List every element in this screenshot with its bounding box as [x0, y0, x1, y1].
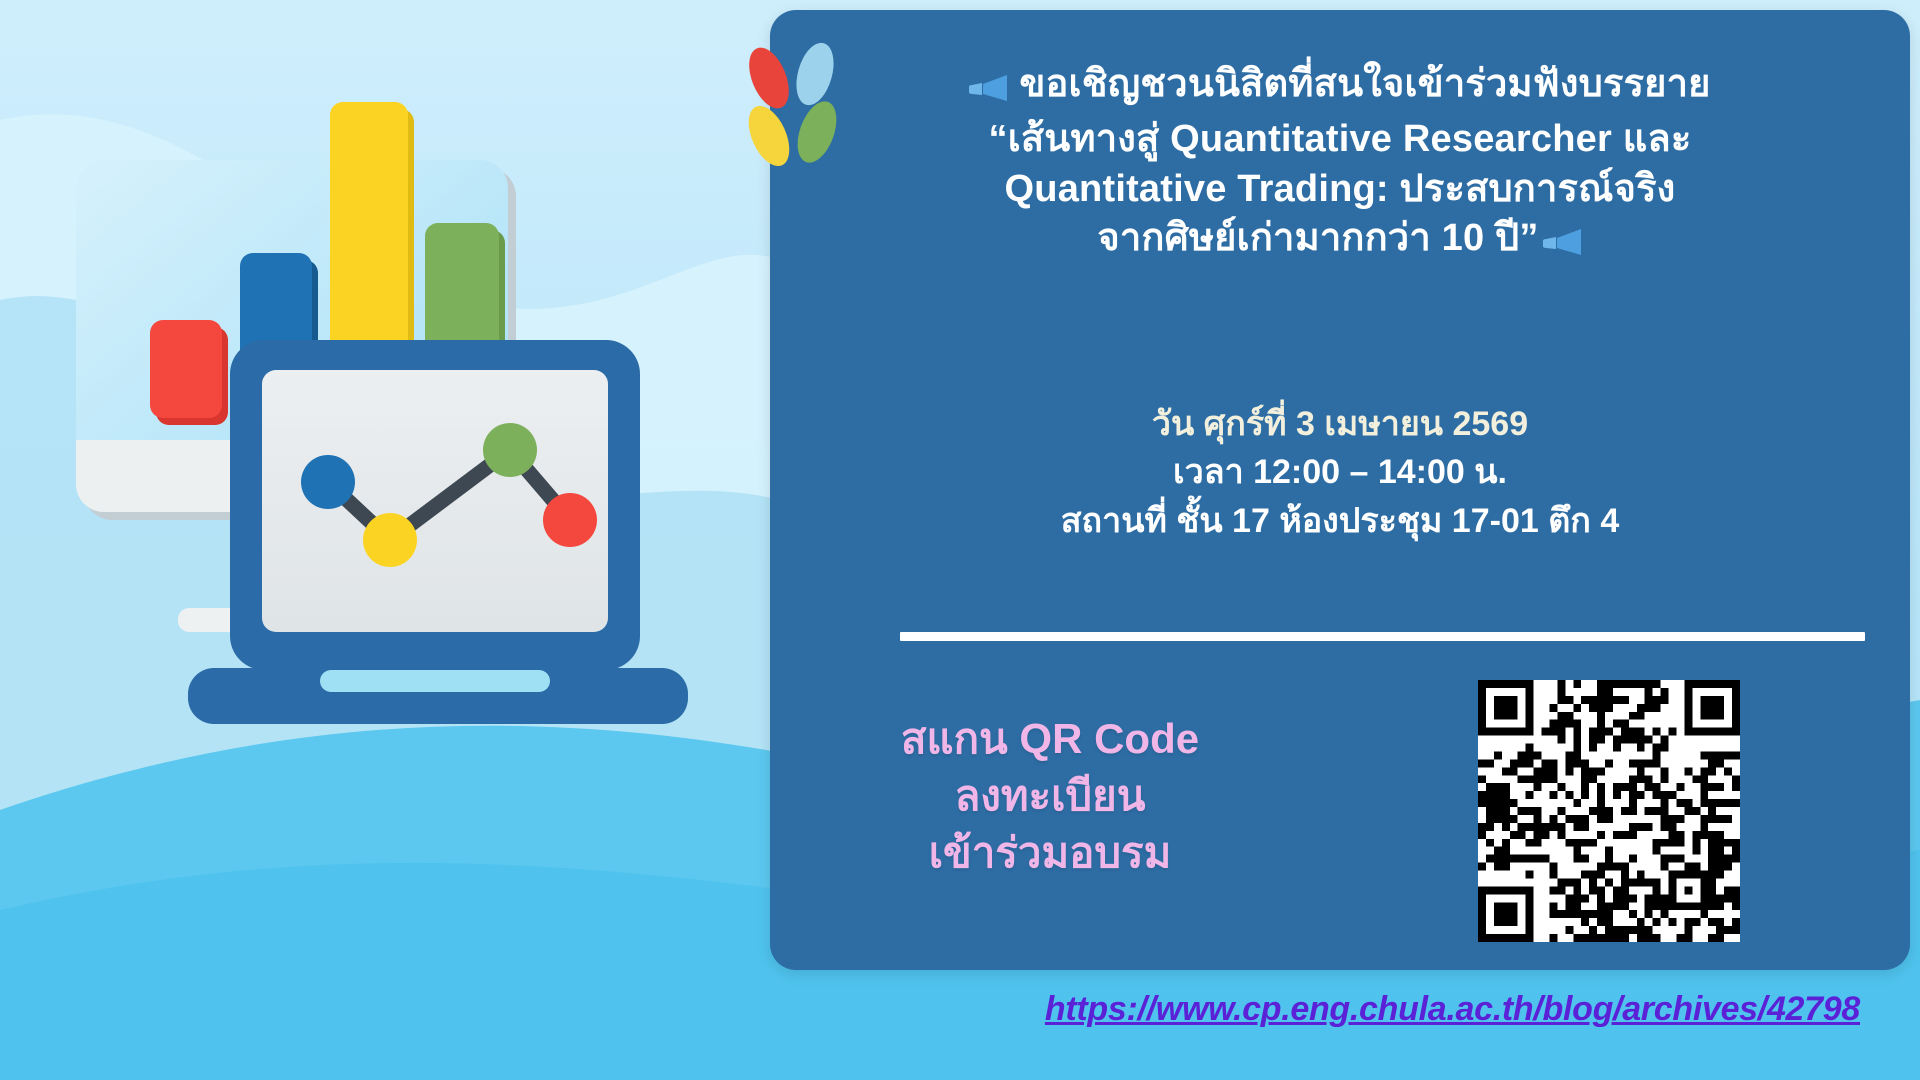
headline-line-2: “เส้นทางสู่ Quantitative Researcher และ: [790, 115, 1890, 164]
scan-line-1: สแกน QR Code: [840, 710, 1260, 767]
laptop: [188, 340, 688, 724]
data-analytics-illustration: [40, 70, 740, 810]
event-time: เวลา 12:00 – 14:00 น.: [790, 448, 1890, 496]
headline-line-1: ขอเชิญชวนนิสิตที่สนใจเข้าร่วมฟังบรรยาย: [790, 60, 1890, 115]
point-blue: [301, 455, 355, 509]
point-red: [543, 493, 597, 547]
headline: ขอเชิญชวนนิสิตที่สนใจเข้าร่วมฟังบรรยาย “…: [790, 60, 1890, 270]
headline-text-4: จากศิษย์เก่ามากกว่า 10 ปี”: [1097, 217, 1538, 259]
event-venue: สถานที่ ชั้น 17 ห้องประชุม 17-01 ตึก 4: [790, 497, 1890, 545]
registration-url[interactable]: https://www.cp.eng.chula.ac.th/blog/arch…: [0, 990, 1860, 1029]
scan-line-2: ลงทะเบียน: [840, 767, 1260, 824]
scan-instruction: สแกน QR Code ลงทะเบียน เข้าร่วมอบรม: [840, 710, 1260, 881]
megaphone-icon: [969, 66, 1009, 115]
headline-text-1: ขอเชิญชวนนิสิตที่สนใจเข้าร่วมฟังบรรยาย: [1019, 63, 1710, 105]
divider-rule: [900, 632, 1865, 641]
headline-line-4: จากศิษย์เก่ามากกว่า 10 ปี”: [790, 214, 1890, 269]
point-green: [483, 423, 537, 477]
event-date: วัน ศุกร์ที่ 3 เมษายน 2569: [790, 400, 1890, 448]
bar-red: [150, 320, 228, 425]
event-poster: ขอเชิญชวนนิสิตที่สนใจเข้าร่วมฟังบรรยาย “…: [0, 0, 1920, 1080]
scan-line-3: เข้าร่วมอบรม: [840, 824, 1260, 881]
headline-line-3: Quantitative Trading: ประสบการณ์จริง: [790, 165, 1890, 214]
event-details: วัน ศุกร์ที่ 3 เมษายน 2569 เวลา 12:00 – …: [790, 400, 1890, 545]
qr-code-icon[interactable]: [1478, 680, 1740, 942]
megaphone-icon-end: [1543, 220, 1583, 269]
point-yellow: [363, 513, 417, 567]
